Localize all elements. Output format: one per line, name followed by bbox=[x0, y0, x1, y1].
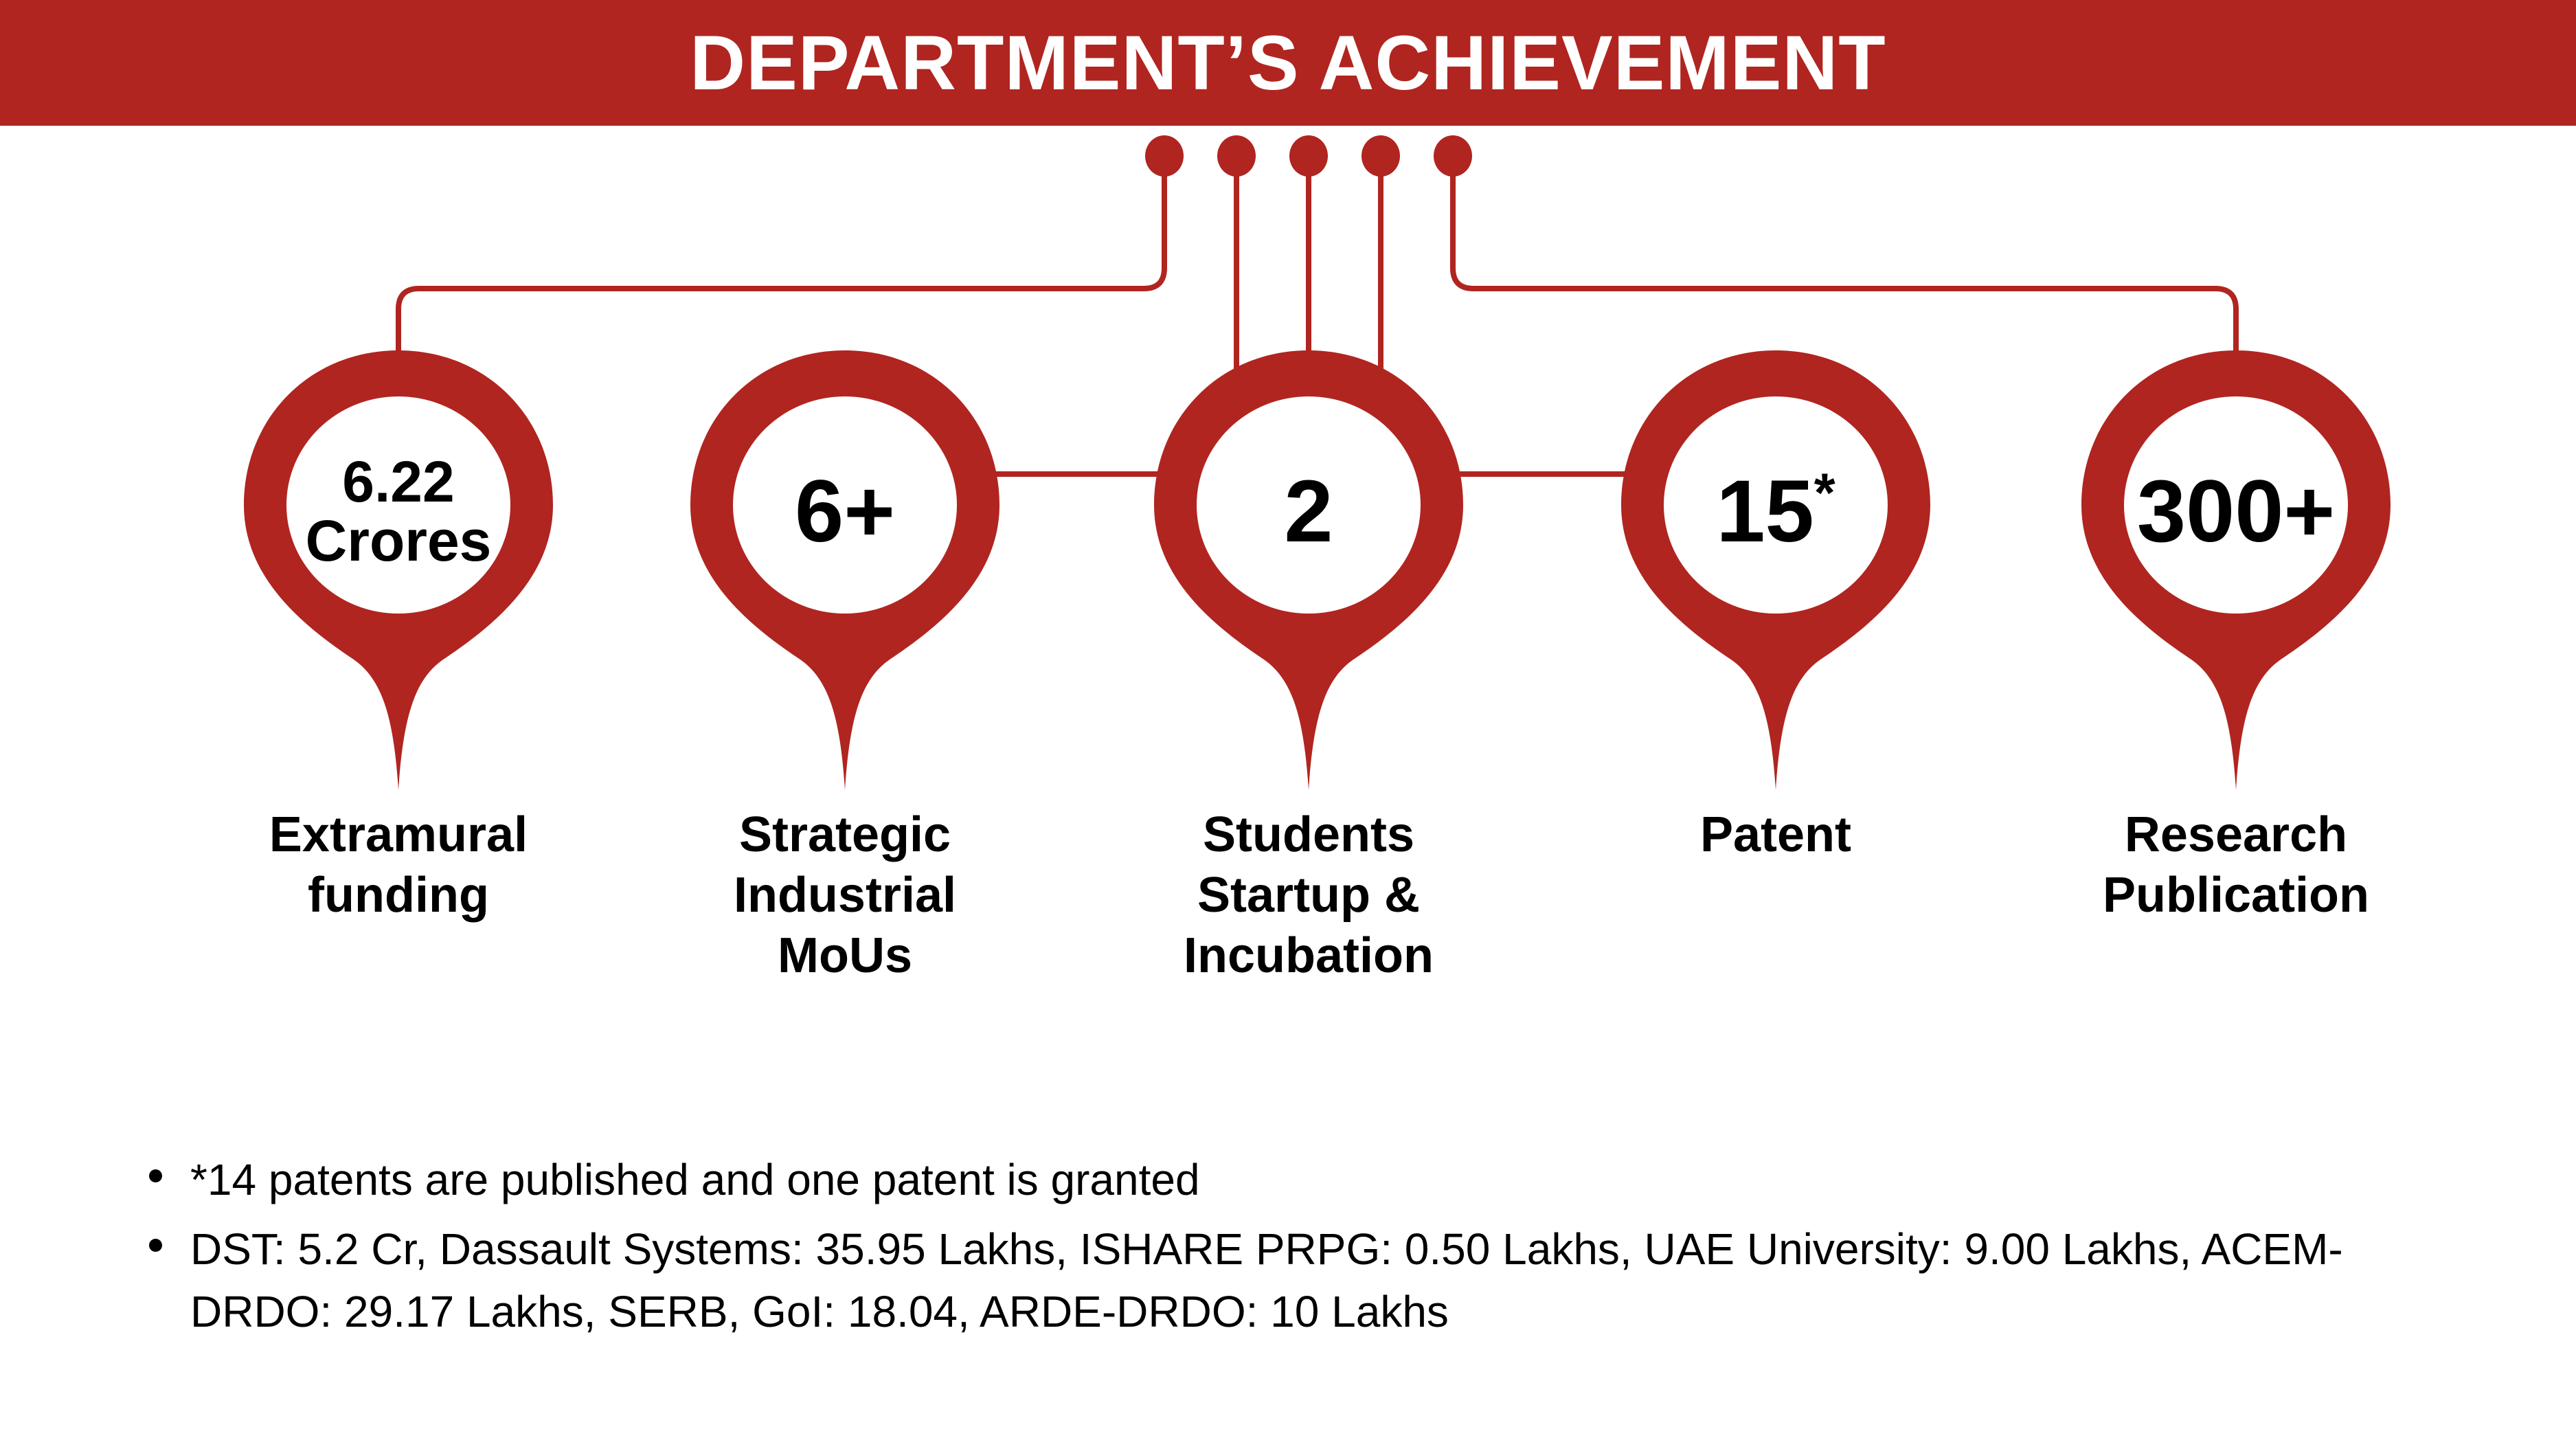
achievement-label-line1: Patent bbox=[1583, 805, 1968, 866]
page-title: DEPARTMENT’S ACHIEVEMENT bbox=[690, 25, 1886, 102]
achievement-value-line1: 2 bbox=[1284, 467, 1333, 557]
footnote-item: DST: 5.2 Cr, Dassault Systems: 35.95 Lak… bbox=[134, 1218, 2483, 1343]
footnote-item: *14 patents are published and one patent… bbox=[134, 1149, 2483, 1211]
achievement-label-line2: Publication bbox=[2044, 866, 2428, 926]
achievement-value-line1: 300+ bbox=[2137, 467, 2335, 557]
connector-dot-4 bbox=[1362, 135, 1400, 177]
footnotes-list: *14 patents are published and one patent… bbox=[134, 1149, 2483, 1343]
achievement-label: Extramural funding bbox=[206, 805, 591, 926]
achievement-label-line1: Extramural bbox=[206, 805, 591, 866]
achievement-item-strategic-industrial-mous[interactable]: 6+ Strategic Industrial MoUs bbox=[653, 344, 1037, 986]
achievement-label-line2: funding bbox=[206, 866, 591, 926]
achievement-label-line2: Startup & bbox=[1116, 866, 1501, 926]
map-pin-icon: 6+ bbox=[683, 344, 1006, 797]
bullet-dot-icon bbox=[149, 1169, 162, 1182]
achievement-label-line2: Industrial bbox=[653, 866, 1037, 926]
achievement-value: 6+ bbox=[683, 344, 1006, 680]
achievement-label-line1: Research bbox=[2044, 805, 2428, 866]
achievement-item-patent[interactable]: 15* Patent bbox=[1583, 344, 1968, 866]
header-banner: DEPARTMENT’S ACHIEVEMENT bbox=[0, 0, 2576, 126]
connector-dot-1 bbox=[1145, 135, 1184, 177]
achievement-label: Patent bbox=[1583, 805, 1968, 866]
asterisk-marker: * bbox=[1814, 462, 1835, 523]
footnotes-section: *14 patents are published and one patent… bbox=[134, 1149, 2483, 1350]
achievement-pins-row: 6.22 Crores Extramural funding 6+ Strate… bbox=[0, 344, 2576, 1031]
footnote-text: *14 patents are published and one patent… bbox=[190, 1155, 1200, 1204]
achievement-value-line1: 15 bbox=[1716, 462, 1814, 561]
achievement-label-line3: Incubation bbox=[1116, 926, 1501, 987]
achievement-label-line3: MoUs bbox=[653, 926, 1037, 987]
bullet-dot-icon bbox=[149, 1239, 162, 1252]
achievement-label: Students Startup & Incubation bbox=[1116, 805, 1501, 986]
achievement-value-line1: 6.22 bbox=[342, 449, 455, 514]
footnote-text: DST: 5.2 Cr, Dassault Systems: 35.95 Lak… bbox=[190, 1224, 2343, 1336]
achievement-value-line1: 6+ bbox=[795, 467, 895, 557]
achievement-label-line1: Students bbox=[1116, 805, 1501, 866]
connector-line-1 bbox=[398, 175, 1164, 361]
map-pin-icon: 300+ bbox=[2075, 344, 2397, 797]
achievement-value: 2 bbox=[1147, 344, 1470, 680]
achievement-label: Strategic Industrial MoUs bbox=[653, 805, 1037, 986]
connector-dot-5 bbox=[1434, 135, 1472, 177]
connector-line-5 bbox=[1453, 175, 2236, 361]
achievement-value: 15* bbox=[1614, 344, 1937, 680]
achievement-value: 300+ bbox=[2075, 344, 2397, 680]
achievement-item-research-publication[interactable]: 300+ Research Publication bbox=[2044, 344, 2428, 926]
map-pin-icon: 2 bbox=[1147, 344, 1470, 797]
map-pin-icon: 15* bbox=[1614, 344, 1937, 797]
achievement-item-extramural-funding[interactable]: 6.22 Crores Extramural funding bbox=[206, 344, 591, 926]
connector-dot-2 bbox=[1217, 135, 1256, 177]
map-pin-icon: 6.22 Crores bbox=[237, 344, 560, 797]
achievement-value-line2: Crores bbox=[306, 508, 492, 573]
achievement-value: 6.22 Crores bbox=[237, 344, 560, 680]
connector-dot-3 bbox=[1289, 135, 1328, 177]
achievement-label: Research Publication bbox=[2044, 805, 2428, 926]
achievement-item-students-startup-incubation[interactable]: 2 Students Startup & Incubation bbox=[1116, 344, 1501, 986]
achievement-label-line1: Strategic bbox=[653, 805, 1037, 866]
